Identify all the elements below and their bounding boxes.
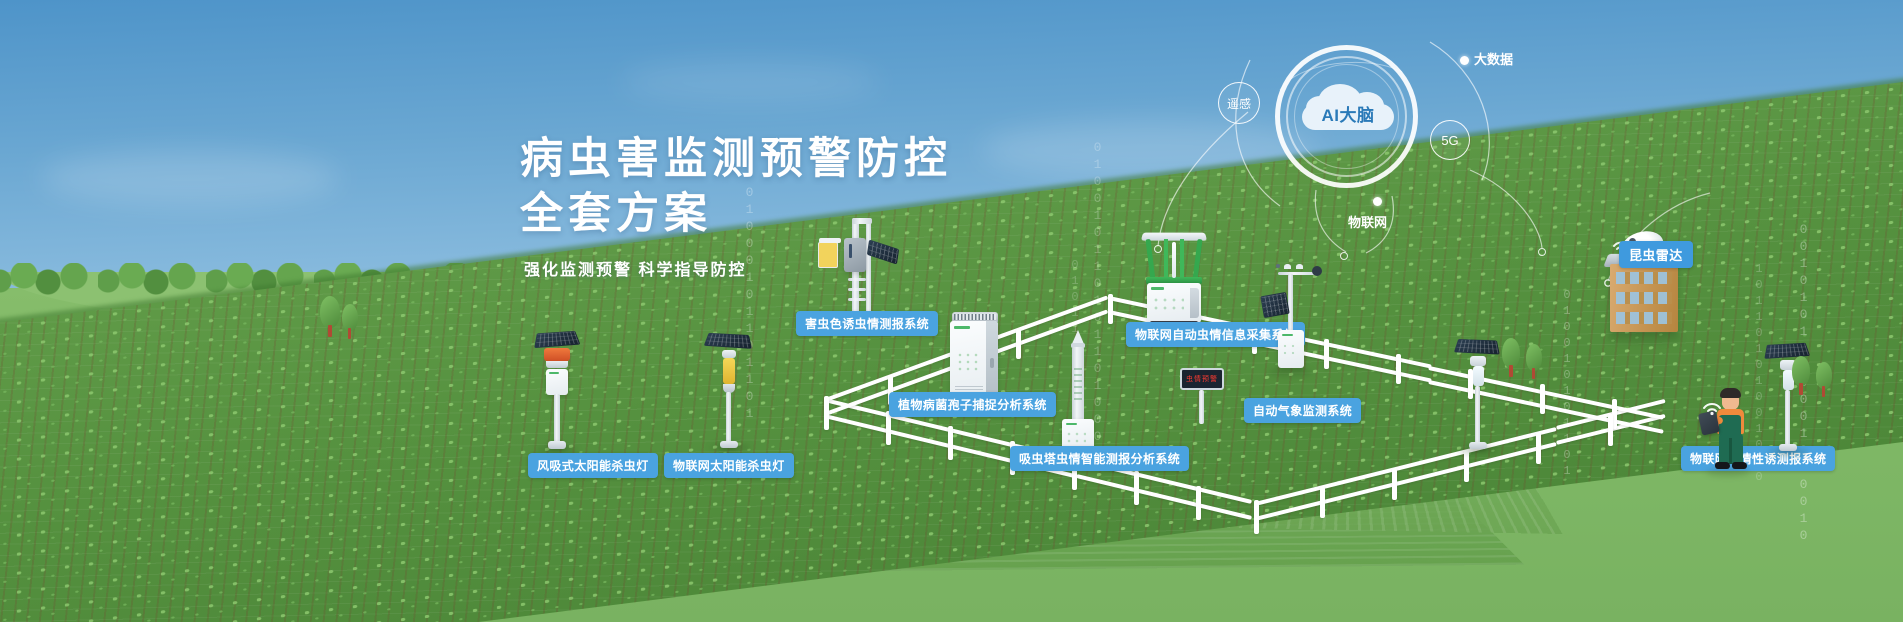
tree-decoration (318, 296, 342, 338)
label-color-lure-system[interactable]: 害虫色诱虫情测报系统 (796, 311, 938, 336)
led-sign-pole (1199, 390, 1204, 424)
tree-decoration (340, 304, 360, 340)
hero-illustration: 01000101101101 010010110101101000 010110… (0, 0, 1903, 622)
device-suction-tower (1058, 330, 1098, 454)
network-node-dot-bigdata (1460, 56, 1469, 65)
device-wind-suction-solar-lamp (528, 326, 584, 452)
tree-decoration (1814, 362, 1834, 398)
label-wind-suction-solar-lamp[interactable]: 风吸式太阳能杀虫灯 (528, 453, 658, 478)
label-spore-capture-system[interactable]: 植物病菌孢子捕捉分析系统 (889, 392, 1056, 417)
ai-brain-label: AI大脑 (1302, 101, 1394, 126)
binary-stream: 010010101101 (1560, 288, 1574, 480)
page-title-line1: 病虫害监测预警防控 (520, 132, 952, 187)
network-node-bigdata-label: 大数据 (1474, 49, 1513, 68)
network-node-label: 遥感 (1227, 95, 1251, 112)
tree-decoration (1790, 356, 1812, 396)
label-insect-radar[interactable]: 昆虫雷达 (1619, 241, 1693, 268)
network-node-remote-sensing[interactable]: 遥感 (1218, 82, 1260, 124)
ai-brain-cloud: AI大脑 (1302, 82, 1394, 130)
device-iot-solar-lamp (700, 328, 756, 450)
network-node-5g[interactable]: 5G (1430, 120, 1470, 160)
field-worker-figure (1700, 382, 1760, 474)
cloud-decoration (620, 60, 880, 104)
network-node-iot-label: 物联网 (1348, 212, 1387, 231)
tree-decoration (1524, 344, 1544, 380)
cloud-decoration (40, 150, 340, 206)
label-iot-solar-lamp[interactable]: 物联网太阳能杀虫灯 (664, 453, 794, 478)
led-warning-sign: 虫情预警 (1180, 368, 1224, 390)
device-pheromone-trap (1450, 334, 1504, 452)
network-node-dot-iot (1373, 197, 1382, 206)
label-suction-tower-system[interactable]: 吸虫塔虫情智能测报分析系统 (1010, 446, 1189, 471)
device-weather-station (1258, 264, 1324, 374)
network-node-label: 5G (1441, 133, 1458, 148)
tablet-wifi-icon (1702, 394, 1724, 412)
label-weather-station[interactable]: 自动气象监测系统 (1244, 398, 1361, 423)
tree-decoration (1500, 338, 1522, 378)
network-endpoint-dot (1340, 252, 1348, 260)
